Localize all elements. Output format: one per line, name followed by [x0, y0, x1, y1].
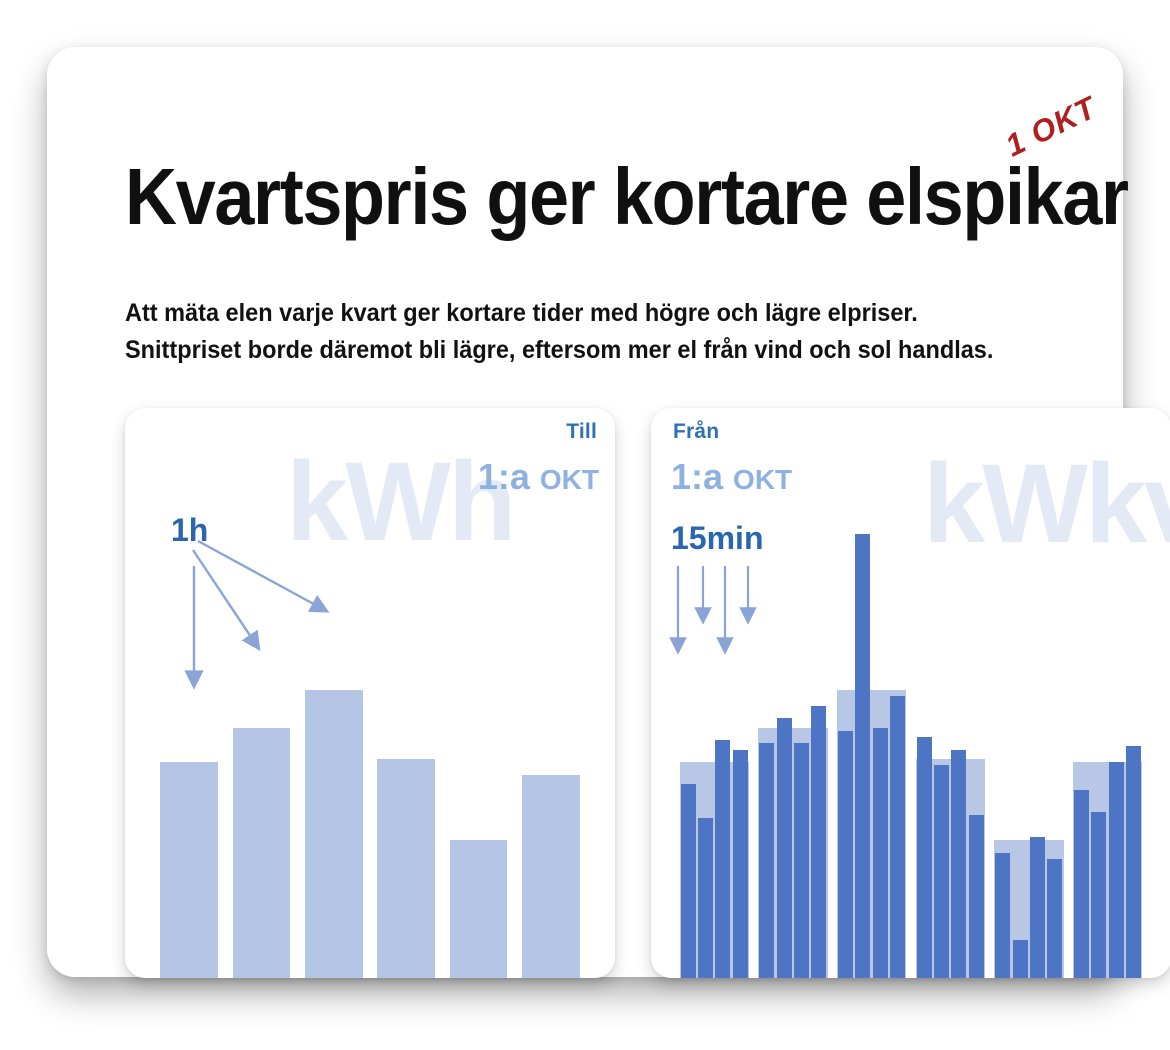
- bar-quarter: [1030, 837, 1045, 978]
- bar-hour: [377, 759, 435, 978]
- bar-quarter: [1126, 746, 1141, 978]
- bar-quarter: [1047, 859, 1062, 978]
- bar-hour: [305, 690, 363, 978]
- chart-panel-hourly: kWh Till 1:a OKT 1h: [125, 408, 615, 978]
- main-card: 1 OKT Kvartspris ger kortare elspikar At…: [47, 47, 1123, 977]
- bar-hour: [522, 775, 580, 978]
- bar-quarter: [890, 696, 905, 978]
- bar-quarter: [855, 534, 870, 978]
- bar-quarter: [934, 765, 949, 978]
- bar-quarter: [759, 743, 774, 978]
- bar-quarter: [951, 750, 966, 978]
- bar-quarter: [995, 853, 1010, 978]
- bar-quarter: [1074, 790, 1089, 978]
- bar-hour: [450, 840, 508, 978]
- chart-panel-quarterly: kWkv Från 1:a OKT 15min: [651, 408, 1170, 978]
- bar-quarter: [917, 737, 932, 978]
- bar-quarter: [698, 818, 713, 978]
- deck-line-2: Snittpriset borde däremot bli lägre, eft…: [125, 332, 1074, 369]
- bar-quarter: [715, 740, 730, 978]
- page-title: Kvartspris ger kortare elspikar: [125, 159, 962, 235]
- infographic-root: 1 OKT Kvartspris ger kortare elspikar At…: [0, 0, 1170, 1050]
- deck-text: Att mäta elen varje kvart ger kortare ti…: [125, 295, 1074, 369]
- bar-quarter: [1091, 812, 1106, 978]
- bar-quarter: [794, 743, 809, 978]
- bar-quarter: [1109, 762, 1124, 978]
- bar-quarter: [873, 728, 888, 978]
- bar-hour: [160, 762, 218, 978]
- bar-quarter: [811, 706, 826, 978]
- bar-quarter: [838, 731, 853, 978]
- bar-quarter: [969, 815, 984, 978]
- bar-hour: [233, 728, 291, 978]
- bar-plot-quarterly: [651, 408, 1170, 978]
- deck-line-1: Att mäta elen varje kvart ger kortare ti…: [125, 295, 1074, 332]
- bar-plot-hourly: [125, 408, 615, 978]
- bar-quarter: [777, 718, 792, 978]
- bar-quarter: [733, 750, 748, 978]
- bar-quarter: [681, 784, 696, 978]
- bar-quarter: [1013, 940, 1028, 978]
